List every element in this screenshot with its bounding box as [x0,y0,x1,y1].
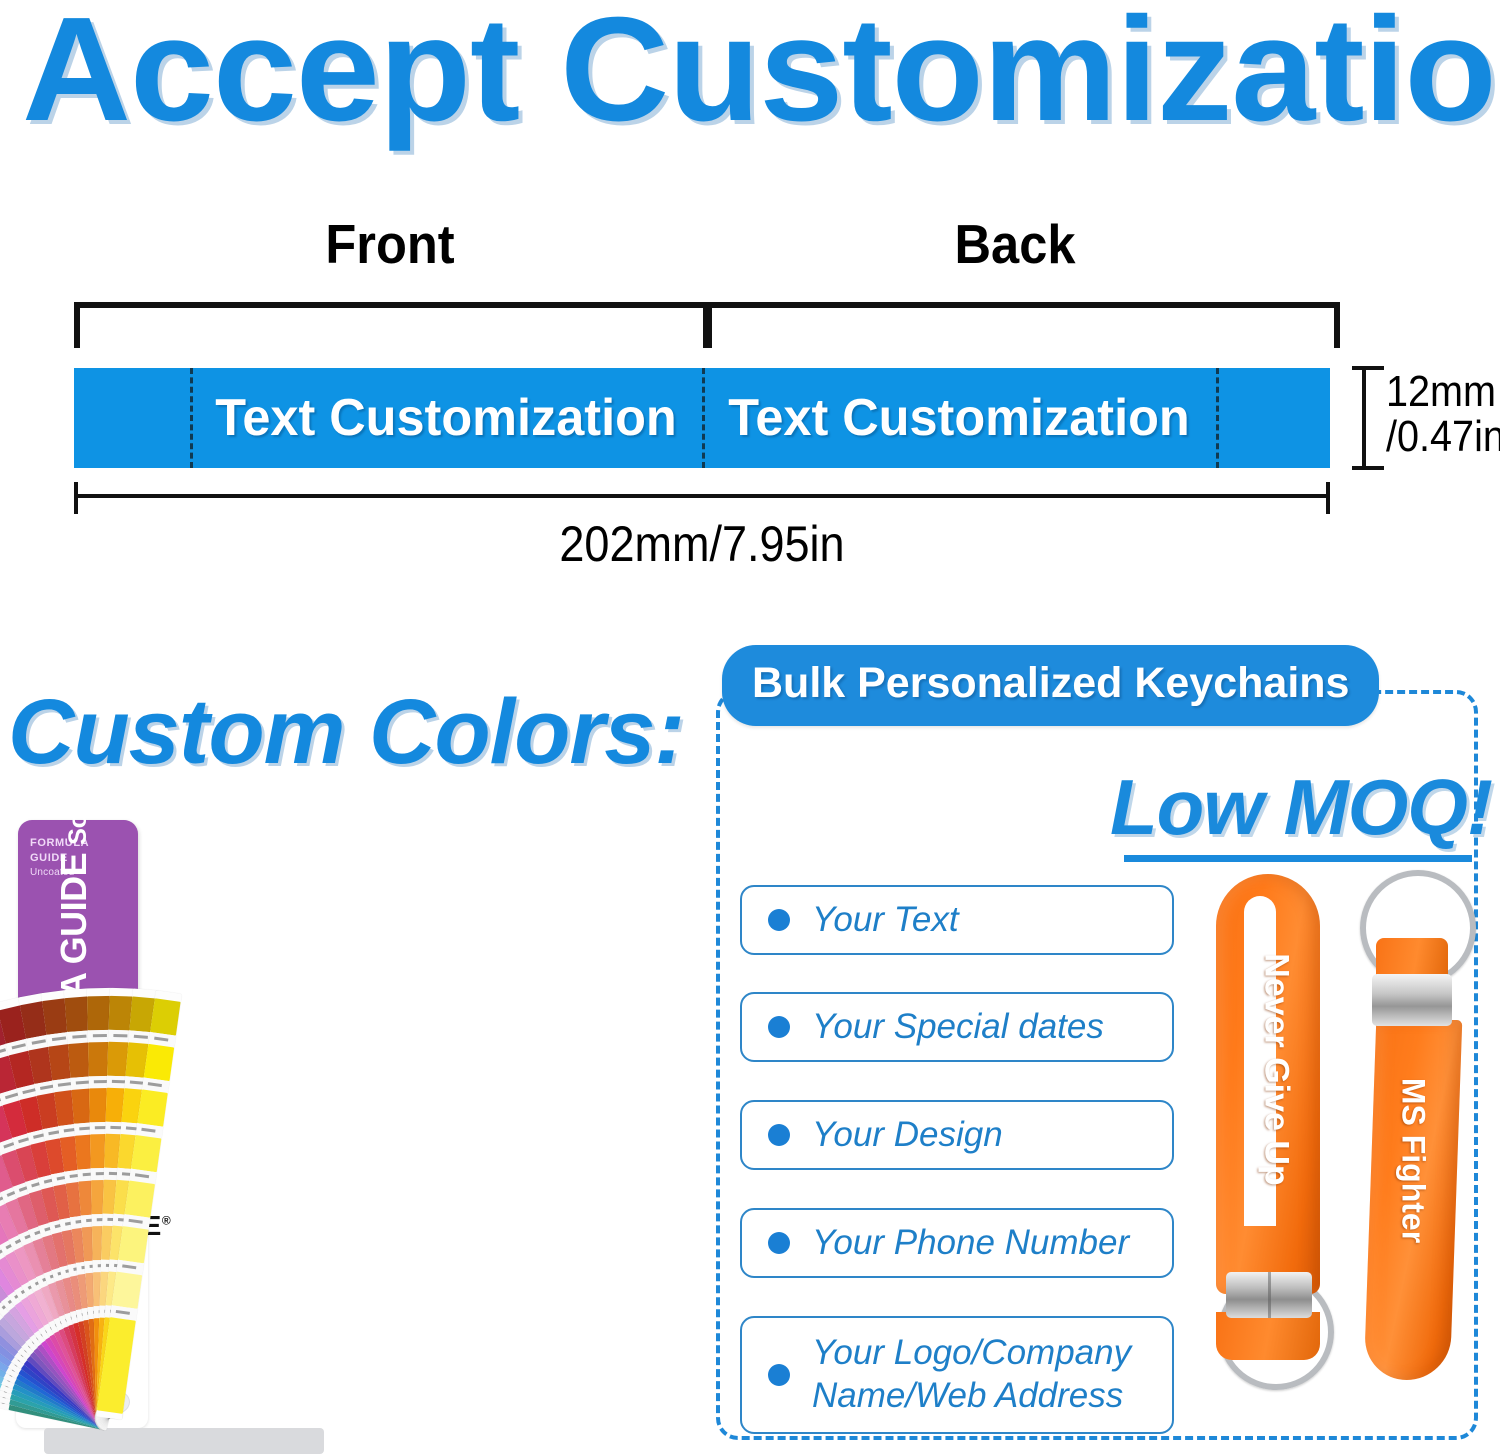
fan-swatch [118,1226,148,1263]
front-label: Front [252,212,528,276]
fan-swatch [131,1135,161,1172]
keychain-text: MS Fighter [1395,1016,1432,1306]
feature-label: Your Design [812,1114,1003,1157]
infographic-root: Accept Customization Front Back Text Cus… [0,0,1500,1456]
feature-label: Your Phone Number [812,1222,1129,1265]
fan-code-tick [93,1034,107,1037]
fan-code-tick [94,1080,108,1083]
feature-label: Your Text [812,899,959,942]
front-bracket [74,302,709,348]
feature-item[interactable]: Your Text [740,885,1174,955]
fan-swatch [150,998,180,1035]
bullet-icon [768,1364,790,1386]
back-bracket [706,302,1340,348]
feature-item[interactable]: Your Phone Number [740,1208,1174,1278]
feature-item[interactable]: Your Special dates [740,992,1174,1062]
height-dimension-label: 12mm /0.47in [1386,370,1494,460]
pantone-fan-deck: FORMULA GUIDE Uncoated FORMULA GUIDESoli… [0,818,700,1456]
feature-item[interactable]: Your Design [740,1100,1174,1170]
back-label: Back [877,212,1153,276]
fan-swatch [112,1272,142,1309]
bullet-icon [768,1232,790,1254]
strip-divider-left [190,368,193,468]
feature-label: Your Logo/Company Name/Web Address [812,1332,1172,1417]
registered-icon: ® [162,1214,171,1228]
height-mm: 12mm [1386,370,1494,415]
strip-back-text: Text Customization [710,368,1209,468]
height-cap-bottom [1352,466,1384,470]
keychain-ms-fighter: MS Fighter [1336,862,1476,1422]
low-moq-underline [1124,855,1472,862]
keychain-product-photo: Never Give Up MS Fighter [1196,862,1486,1442]
bullet-icon [768,1124,790,1146]
page-title: Accept Customization [22,0,1500,144]
strip-divider-center [702,368,705,468]
feature-label: Your Special dates [812,1006,1104,1049]
fan-cover-vertical-small: Solid Uncoated [64,818,92,845]
feature-item[interactable]: Your Logo/Company Name/Web Address [740,1316,1174,1434]
width-dimension-label: 202mm/7.95in [137,515,1267,573]
bullet-icon [768,1016,790,1038]
fan-code-tick [113,1034,127,1037]
fan-swatch [137,1089,167,1126]
width-dimension-line [74,494,1330,498]
keychain-text: Never Give Up [1257,910,1296,1230]
height-cap-top [1352,366,1384,370]
low-moq-label: Low MOQ! [1110,762,1480,853]
bullet-icon [768,909,790,931]
custom-colors-heading: Custom Colors: [8,680,688,785]
width-cap-left [74,482,78,514]
strip-divider-right [1216,368,1219,468]
width-cap-right [1326,482,1330,514]
height-in: /0.47in [1386,415,1494,460]
bulk-panel-title-pill: Bulk Personalized Keychains [722,645,1379,726]
keychain-never-give-up: Never Give Up [1204,874,1334,1386]
fan-swatch [144,1044,174,1081]
fan-base [44,1428,324,1454]
metal-crimp [1226,1272,1312,1318]
strip-front-text: Text Customization [198,368,695,468]
fan-swatch [125,1181,155,1218]
keychain-tail [1216,1312,1320,1360]
keychain-strip: Text Customization Text Customization [74,368,1330,468]
height-dimension-line [1362,368,1366,468]
